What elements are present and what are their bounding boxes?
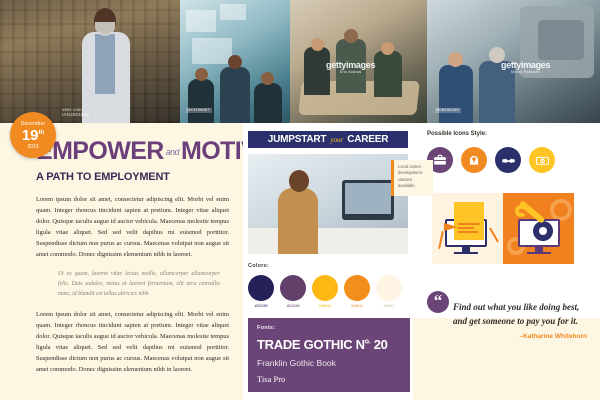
photo-workshop-technicians: gettyimages Monty Rakusen 508456265: [427, 0, 600, 123]
body-paragraph-1: Lorem ipsum dolor sit amet, consectetur …: [36, 194, 229, 260]
worker-figure: [78, 8, 134, 123]
swatch-chip: [248, 275, 274, 301]
icons-section-title: Possible Icons Style:: [427, 131, 487, 137]
getty-watermark: gettyimages Eric Audras: [326, 60, 375, 74]
head-idea-icon: [461, 147, 487, 173]
swatch-cream: #fdf4e3: [376, 275, 402, 308]
monitor-document-illustration: [432, 193, 503, 264]
photo-team-meeting: gettyimages Eric Audras: [290, 0, 427, 123]
typography-section: Fonts: TRADE GOTHIC No. 20 Franklin Goth…: [248, 318, 410, 392]
photo-office-stairs: 543196887: [180, 0, 290, 123]
color-palette-section: Colors: #252259 #624069 #fdb913 #f28e1c: [248, 263, 410, 308]
getty-wordmark: gettyimages: [501, 60, 550, 70]
quote-attribution: –Katharine Whitehorn: [453, 333, 587, 340]
page-title: EMPOWERandMOTIVATE: [36, 139, 229, 164]
badge-year: 2013: [27, 144, 38, 150]
icon-set: [427, 147, 555, 173]
jumpstart-career-banner: JUMPSTART your CAREER: [248, 131, 408, 148]
getty-watermark: gettyimages Monty Rakusen: [501, 60, 550, 74]
body-paragraph-2: Lorem ipsum dolor sit amet, consectetur …: [36, 309, 229, 375]
photo-woman-at-computer: [248, 154, 408, 254]
design-style-guide-board: veer.com/ IAN3001643 543196887 gettyimag…: [0, 0, 600, 400]
swatch-row: #252259 #624069 #fdb913 #f28e1c #fdf4e3: [248, 275, 410, 308]
illustration-set: [432, 193, 574, 264]
handshake-icon: [495, 147, 521, 173]
article-column: EMPOWERandMOTIVATE A PATH TO EMPLOYMENT …: [0, 123, 243, 400]
quote-text: Find out what you like doing best, and g…: [453, 291, 587, 329]
swatch-chip: [376, 275, 402, 301]
quote-mark-icon: “: [427, 291, 449, 313]
swatch-yellow: #fdb913: [312, 275, 338, 308]
swatch-hex-label: #fdb913: [312, 304, 338, 308]
swatch-plum: #624069: [280, 275, 306, 308]
swatch-navy: #252259: [248, 275, 274, 308]
swatch-hex-label: #f28e1c: [344, 304, 370, 308]
headline-conjunction: and: [164, 147, 181, 157]
font-primary: TRADE GOTHIC No. 20: [257, 337, 401, 352]
badge-day: 19th: [22, 128, 44, 143]
swatch-chip: [280, 275, 306, 301]
swatch-hex-label: #fdf4e3: [376, 304, 402, 308]
swatch-hex-label: #252259: [248, 304, 274, 308]
page-subtitle: A PATH TO EMPLOYMENT: [36, 171, 229, 183]
getty-photographer: Monty Rakusen: [501, 70, 550, 74]
photo-warehouse-worker: veer.com/ IAN3001643: [0, 0, 180, 123]
headline-word-1: EMPOWER: [36, 137, 164, 165]
swatch-hex-label: #624069: [280, 304, 306, 308]
annotation-note: Local career development classes availab…: [391, 160, 433, 196]
date-badge: December 19th 2013: [10, 112, 56, 158]
font-secondary: Franklin Gothic Book: [257, 358, 401, 368]
banner-word-career: CAREER: [347, 134, 388, 145]
getty-photographer: Eric Audras: [326, 70, 375, 74]
banner-word-your: your: [329, 136, 344, 144]
fonts-label: Fonts:: [257, 325, 401, 331]
getty-wordmark: gettyimages: [326, 60, 375, 70]
swatch-chip: [344, 275, 370, 301]
colors-label: Colors:: [248, 263, 410, 269]
brand-spec-column: JUMPSTART your CAREER Local career devel…: [243, 123, 413, 400]
testimonial-quote: “ Find out what you like doing best, and…: [427, 291, 587, 340]
swatch-orange: #f28e1c: [344, 275, 370, 308]
swatch-chip: [312, 275, 338, 301]
pull-quote-paragraph: Ut ex quam, laoreet vitae lectus mollis,…: [58, 269, 220, 299]
banner-word-jumpstart: JUMPSTART: [268, 134, 327, 145]
font-tertiary: Tisa Pro: [257, 374, 401, 384]
monitor-wrench-gears-illustration: [503, 193, 574, 264]
assets-column: Possible Icons Style:: [413, 123, 600, 400]
photo-strip: veer.com/ IAN3001643 543196887 gettyimag…: [0, 0, 600, 123]
money-icon: [529, 147, 555, 173]
